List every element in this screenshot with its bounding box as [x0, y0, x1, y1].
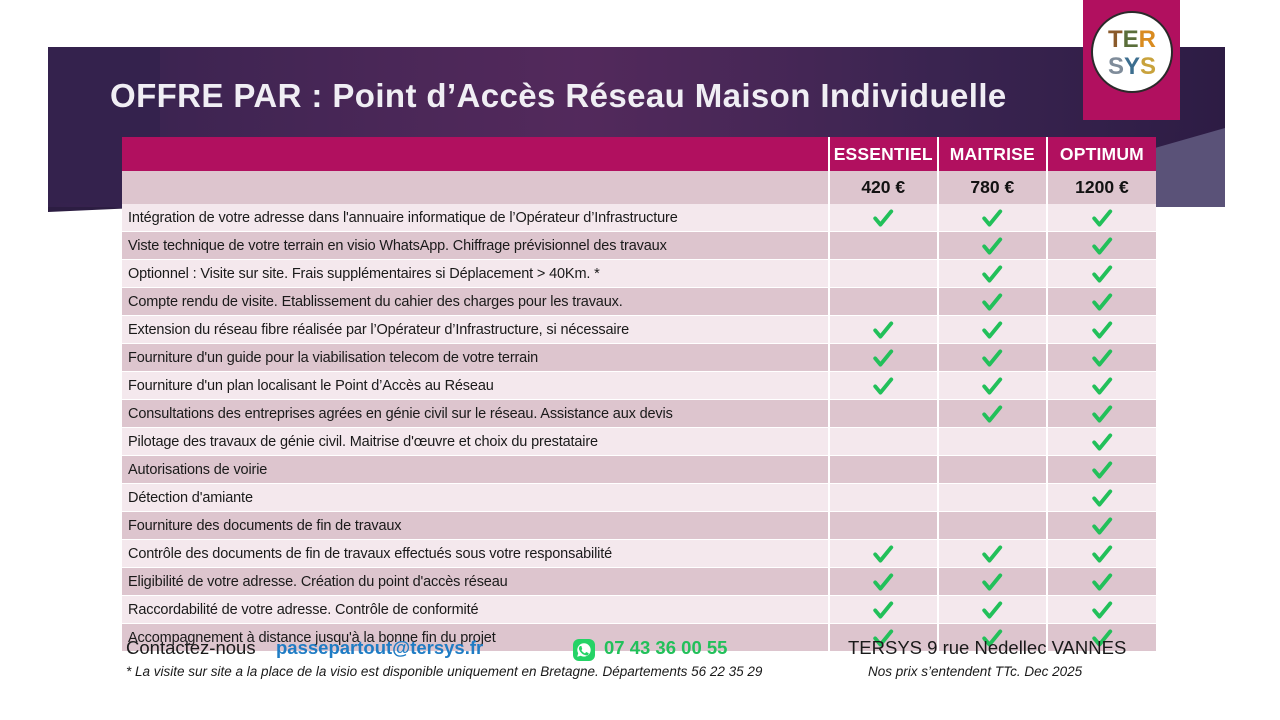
check-optimum [1047, 484, 1156, 512]
logo-line-1: TER [1093, 28, 1171, 52]
check-icon [1091, 207, 1113, 229]
check-essentiel [829, 204, 938, 232]
empty-essentiel [829, 428, 938, 456]
check-optimum [1047, 428, 1156, 456]
empty-maitrise [938, 512, 1047, 540]
check-essentiel [829, 344, 938, 372]
check-optimum [1047, 400, 1156, 428]
empty-essentiel [829, 484, 938, 512]
price-row-spacer [122, 171, 829, 204]
table-body: Intégration de votre adresse dans l'annu… [122, 204, 1156, 652]
check-optimum [1047, 260, 1156, 288]
feature-label: Intégration de votre adresse dans l'annu… [122, 204, 829, 232]
check-maitrise [938, 568, 1047, 596]
feature-label: Autorisations de voirie [122, 456, 829, 484]
price-maitrise: 780 € [938, 171, 1047, 204]
check-optimum [1047, 540, 1156, 568]
check-icon [1091, 235, 1113, 257]
check-optimum [1047, 316, 1156, 344]
check-icon [1091, 487, 1113, 509]
check-essentiel [829, 316, 938, 344]
feature-label: Consultations des entreprises agrées en … [122, 400, 829, 428]
check-essentiel [829, 596, 938, 624]
offer-comparison-table: ESSENTIEL MAITRISE OPTIMUM 420 € 780 € 1… [122, 137, 1156, 652]
feature-label: Fourniture d'un guide pour la viabilisat… [122, 344, 829, 372]
table-row: Compte rendu de visite. Etablissement du… [122, 288, 1156, 316]
check-icon [872, 375, 894, 397]
price-essentiel: 420 € [829, 171, 938, 204]
table-row: Eligibilité de votre adresse. Création d… [122, 568, 1156, 596]
check-icon [1091, 627, 1113, 649]
check-maitrise [938, 344, 1047, 372]
check-maitrise [938, 540, 1047, 568]
footnote-right: Nos prix s’entendent TTc. Dec 2025 [868, 664, 1082, 679]
empty-maitrise [938, 428, 1047, 456]
feature-label: Raccordabilité de votre adresse. Contrôl… [122, 596, 829, 624]
check-optimum [1047, 568, 1156, 596]
column-header-essentiel: ESSENTIEL [829, 137, 938, 171]
check-essentiel [829, 372, 938, 400]
check-icon [1091, 571, 1113, 593]
check-optimum [1047, 232, 1156, 260]
table-row: Détection d'amiante [122, 484, 1156, 512]
feature-label: Fourniture des documents de fin de trava… [122, 512, 829, 540]
check-maitrise [938, 400, 1047, 428]
check-icon [1091, 431, 1113, 453]
check-optimum [1047, 344, 1156, 372]
check-maitrise [938, 232, 1047, 260]
check-optimum [1047, 596, 1156, 624]
check-essentiel [829, 540, 938, 568]
check-icon [981, 347, 1003, 369]
check-icon [1091, 515, 1113, 537]
empty-essentiel [829, 512, 938, 540]
check-icon [1091, 375, 1113, 397]
table-row: Fourniture d'un plan localisant le Point… [122, 372, 1156, 400]
feature-label: Extension du réseau fibre réalisée par l… [122, 316, 829, 344]
check-icon [981, 599, 1003, 621]
empty-maitrise [938, 456, 1047, 484]
check-icon [872, 347, 894, 369]
check-icon [1091, 263, 1113, 285]
check-maitrise [938, 372, 1047, 400]
check-icon [981, 207, 1003, 229]
check-icon [1091, 459, 1113, 481]
check-optimum [1047, 512, 1156, 540]
empty-essentiel [829, 260, 938, 288]
price-optimum: 1200 € [1047, 171, 1156, 204]
feature-label: Pilotage des travaux de génie civil. Mai… [122, 428, 829, 456]
column-header-feature [122, 137, 829, 171]
check-icon [872, 627, 894, 649]
check-icon [872, 319, 894, 341]
table-row: Autorisations de voirie [122, 456, 1156, 484]
check-essentiel [829, 568, 938, 596]
check-essentiel [829, 624, 938, 652]
check-icon [1091, 319, 1113, 341]
empty-essentiel [829, 232, 938, 260]
feature-label: Fourniture d'un plan localisant le Point… [122, 372, 829, 400]
check-optimum [1047, 372, 1156, 400]
table-row: Pilotage des travaux de génie civil. Mai… [122, 428, 1156, 456]
table-row: Viste technique de votre terrain en visi… [122, 232, 1156, 260]
check-icon [1091, 403, 1113, 425]
check-icon [981, 291, 1003, 313]
empty-essentiel [829, 400, 938, 428]
check-maitrise [938, 596, 1047, 624]
check-optimum [1047, 456, 1156, 484]
check-icon [1091, 347, 1113, 369]
check-icon [981, 235, 1003, 257]
feature-label: Optionnel : Visite sur site. Frais suppl… [122, 260, 829, 288]
check-icon [1091, 543, 1113, 565]
table-row: Contrôle des documents de fin de travaux… [122, 540, 1156, 568]
tersys-logo: TER SYS [1091, 11, 1173, 93]
slide-canvas: OFFRE PAR : Point d’Accès Réseau Maison … [0, 0, 1280, 720]
table-price-row: 420 € 780 € 1200 € [122, 171, 1156, 204]
check-icon [872, 599, 894, 621]
empty-essentiel [829, 456, 938, 484]
table-row: Accompagnement à distance jusqu'à la bon… [122, 624, 1156, 652]
column-header-optimum: OPTIMUM [1047, 137, 1156, 171]
feature-label: Accompagnement à distance jusqu'à la bon… [122, 624, 829, 652]
check-icon [1091, 291, 1113, 313]
footnote-left: * La visite sur site a la place de la vi… [126, 664, 762, 679]
feature-label: Détection d'amiante [122, 484, 829, 512]
check-maitrise [938, 204, 1047, 232]
check-icon [981, 571, 1003, 593]
feature-label: Contrôle des documents de fin de travaux… [122, 540, 829, 568]
table-row: Fourniture d'un guide pour la viabilisat… [122, 344, 1156, 372]
check-optimum [1047, 288, 1156, 316]
check-icon [981, 375, 1003, 397]
check-maitrise [938, 260, 1047, 288]
table-row: Intégration de votre adresse dans l'annu… [122, 204, 1156, 232]
check-maitrise [938, 316, 1047, 344]
check-optimum [1047, 204, 1156, 232]
table-row: Fourniture des documents de fin de trava… [122, 512, 1156, 540]
page-title: OFFRE PAR : Point d’Accès Réseau Maison … [110, 77, 1007, 115]
check-icon [981, 543, 1003, 565]
check-icon [1091, 599, 1113, 621]
check-icon [981, 403, 1003, 425]
table-row: Raccordabilité de votre adresse. Contrôl… [122, 596, 1156, 624]
table-row: Extension du réseau fibre réalisée par l… [122, 316, 1156, 344]
feature-label: Compte rendu de visite. Etablissement du… [122, 288, 829, 316]
check-optimum [1047, 624, 1156, 652]
check-icon [981, 627, 1003, 649]
table-row: Consultations des entreprises agrées en … [122, 400, 1156, 428]
logo-line-2: SYS [1093, 55, 1171, 79]
empty-essentiel [829, 288, 938, 316]
feature-label: Viste technique de votre terrain en visi… [122, 232, 829, 260]
feature-label: Eligibilité de votre adresse. Création d… [122, 568, 829, 596]
check-icon [872, 571, 894, 593]
table-row: Optionnel : Visite sur site. Frais suppl… [122, 260, 1156, 288]
check-maitrise [938, 288, 1047, 316]
empty-maitrise [938, 484, 1047, 512]
check-icon [872, 207, 894, 229]
check-icon [981, 263, 1003, 285]
check-maitrise [938, 624, 1047, 652]
check-icon [872, 543, 894, 565]
column-header-maitrise: MAITRISE [938, 137, 1047, 171]
check-icon [981, 319, 1003, 341]
table-header-row: ESSENTIEL MAITRISE OPTIMUM [122, 137, 1156, 171]
